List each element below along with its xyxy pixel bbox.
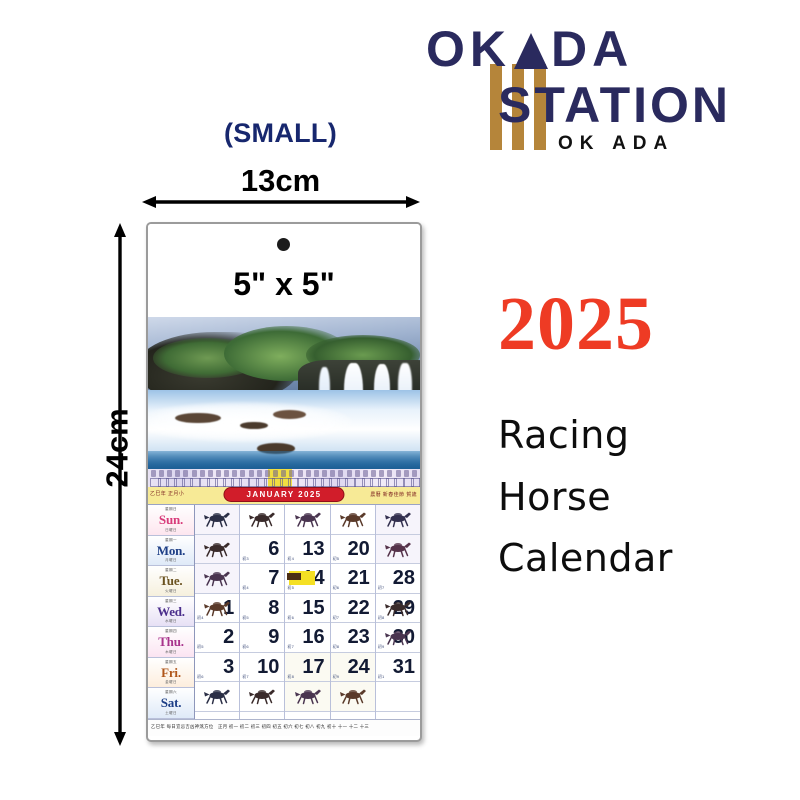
date-number: 23: [348, 627, 370, 647]
weekday-column: 星期日Sun.日曜日星期一Mon.月曜日星期二Tue.火曜日星期三Wed.水曜日…: [148, 505, 195, 719]
photo-river-rock-c: [273, 410, 306, 419]
month-label: JANUARY 2025: [224, 488, 343, 501]
logo-da-text: DA: [551, 21, 633, 77]
week-columns: 1初42初53初66初37初48初59初610初713初414初515初616初…: [195, 505, 420, 719]
calendar-grid: 星期日Sun.日曜日星期一Mon.月曜日星期二Tue.火曜日星期三Wed.水曜日…: [148, 504, 420, 719]
racing-horse-icon: [202, 599, 232, 616]
date-number: 24: [348, 657, 370, 677]
date-cell: 1初4: [195, 594, 239, 624]
decorative-glyph: [183, 470, 188, 477]
date-cell: 2初5: [195, 623, 239, 653]
date-number: 13: [302, 539, 324, 559]
racing-horse-icon: [202, 570, 232, 587]
racing-horse-icon: [383, 540, 413, 557]
date-cell: [331, 682, 375, 712]
date-cell: [376, 535, 420, 565]
logo-line-subtitle: OK ADA: [558, 134, 674, 153]
lunar-date: 初5: [287, 586, 294, 590]
date-cell: [195, 564, 239, 594]
week-column: 28初729初830初931初1: [376, 505, 420, 719]
waterfall-photo: [148, 317, 420, 469]
weekday-name: Fri.: [161, 666, 181, 679]
decorative-glyph: [306, 470, 311, 477]
decorative-glyph: [159, 470, 164, 477]
decorative-glyph: [404, 470, 409, 477]
lunar-date: 初5: [197, 645, 204, 649]
date-cell: [376, 505, 420, 535]
lunar-date: 初8: [333, 645, 340, 649]
date-number: 7: [268, 568, 279, 588]
lunar-date: 初7: [242, 675, 249, 679]
brand-logo: OKDA STATION OK ADA: [418, 22, 778, 152]
weekday-bottom-text: 日曜日: [148, 528, 194, 533]
weekday-name: Sun.: [159, 513, 183, 526]
height-dimension-label: 24cm: [100, 408, 136, 487]
weekday-name: Mon.: [157, 544, 185, 557]
weekday-cell-thu: 星期四Thu.木曜日: [148, 627, 194, 658]
weekday-bottom-text: 水曜日: [148, 619, 194, 624]
weekday-bottom-text: 土曜日: [148, 711, 194, 716]
racing-horse-icon: [383, 599, 413, 616]
date-cell: 15初6: [285, 594, 329, 624]
lunar-date: 初4: [287, 557, 294, 561]
weekday-bottom-text: 火曜日: [148, 589, 194, 594]
product-year: 2025: [498, 286, 654, 362]
size-variant-label: (SMALL): [143, 118, 418, 149]
lunar-date: 初4: [242, 586, 249, 590]
racing-horse-icon: [383, 511, 413, 528]
decorative-glyph: [192, 470, 197, 477]
decorative-glyph: [347, 470, 352, 477]
decorative-box: [419, 478, 420, 487]
decorative-glyph: [338, 470, 343, 477]
date-number: 22: [348, 598, 370, 618]
calendar-header-panel: 5" x 5": [148, 224, 420, 317]
holiday-tag-dark: [287, 573, 301, 580]
date-cell: [195, 535, 239, 565]
date-number: 3: [223, 657, 234, 677]
date-number: 28: [393, 568, 415, 588]
weekday-bottom-text: 木曜日: [148, 650, 194, 655]
weekday-name: Thu.: [158, 635, 184, 648]
date-cell: 24初9: [331, 653, 375, 683]
date-cell: 3初6: [195, 653, 239, 683]
weekday-cell-wed: 星期三Wed.水曜日: [148, 597, 194, 628]
date-number: 10: [257, 657, 279, 677]
lunar-date: 初6: [197, 675, 204, 679]
lunar-date: 初4: [197, 616, 204, 620]
weekday-top-text: 星期五: [148, 660, 194, 665]
date-cell: [195, 505, 239, 535]
weekday-name: Sat.: [161, 696, 182, 709]
date-cell: [240, 505, 284, 535]
decorative-glyph: [167, 470, 172, 477]
date-cell: 8初5: [240, 594, 284, 624]
decorative-glyph: [232, 470, 237, 477]
racing-horse-icon: [293, 688, 323, 705]
racing-horse-icon: [383, 629, 413, 646]
calendar-product-photo: 5" x 5" 乙巳年 正月小 農曆 新春佳節 賀歲: [146, 222, 422, 742]
lunar-date: 初5: [333, 557, 340, 561]
logo-ok-text: OK: [426, 21, 511, 77]
decorative-glyph: [330, 470, 335, 477]
date-cell: [285, 682, 329, 712]
lunar-date: 初7: [287, 645, 294, 649]
product-listing-image: OKDA STATION OK ADA 2025 Racing Horse Ca…: [0, 0, 800, 800]
week-column: 6初37初48初59初610初7: [240, 505, 285, 719]
desc-line-3: Calendar: [498, 528, 768, 590]
decorative-glyph: [355, 470, 360, 477]
logo-triangle-a-icon: [514, 33, 548, 69]
weekday-top-text: 星期四: [148, 629, 194, 634]
date-cell: 7初4: [240, 564, 284, 594]
weekday-top-text: 星期三: [148, 599, 194, 604]
date-cell: [285, 505, 329, 535]
date-number: 31: [393, 657, 415, 677]
weekday-bottom-text: 月曜日: [148, 558, 194, 563]
date-cell: 28初7: [376, 564, 420, 594]
lunar-date: 初8: [287, 675, 294, 679]
footer-left-text: 乙巳年 每日宜忌吉凶神煞方位: [151, 724, 214, 730]
print-size-label: 5" x 5": [148, 266, 420, 303]
decorative-glyph: [208, 470, 213, 477]
date-number: 8: [268, 598, 279, 618]
lunar-date: 初3: [242, 557, 249, 561]
racing-horse-icon: [202, 540, 232, 557]
date-cell: 17初8: [285, 653, 329, 683]
decorative-glyph: [322, 470, 327, 477]
banner-right-text: 農曆 新春佳節 賀歲: [370, 491, 417, 498]
decorative-glyph: [298, 470, 303, 477]
decorative-glyph: [379, 470, 384, 477]
weekday-top-text: 星期六: [148, 690, 194, 695]
racing-horse-icon: [338, 511, 368, 528]
lunar-date: 初5: [242, 616, 249, 620]
lunar-date: 初9: [378, 645, 385, 649]
weekday-top-text: 星期日: [148, 507, 194, 512]
date-number: 9: [268, 627, 279, 647]
decorative-glyph: [265, 470, 270, 477]
date-number: 6: [268, 539, 279, 559]
hanging-hole-icon: [277, 238, 290, 251]
date-cell: 10初7: [240, 653, 284, 683]
decorative-glyph: [371, 470, 376, 477]
date-number: 17: [302, 657, 324, 677]
decorative-glyph: [151, 470, 156, 477]
decorative-glyph: [273, 470, 278, 477]
lunar-date: 初6: [287, 616, 294, 620]
racing-horse-icon: [202, 688, 232, 705]
decorative-glyph: [200, 470, 205, 477]
decorative-glyph: [281, 470, 286, 477]
weekday-cell-sat: 星期六Sat.土曜日: [148, 688, 194, 719]
date-cell: 30初9: [376, 623, 420, 653]
date-cell: [376, 682, 420, 712]
weekday-cell-mon: 星期一Mon.月曜日: [148, 536, 194, 567]
weekday-top-text: 星期一: [148, 538, 194, 543]
date-number: 2: [223, 627, 234, 647]
weekday-cell-fri: 星期五Fri.金曜日: [148, 658, 194, 689]
calendar-footer: 乙巳年 每日宜忌吉凶神煞方位 正月 初一 初二 初三 初四 初五 初六 初七 初…: [148, 719, 420, 736]
decorative-glyph: [289, 470, 294, 477]
weekday-bottom-text: 金曜日: [148, 680, 194, 685]
date-number: 16: [302, 627, 324, 647]
date-cell: [331, 505, 375, 535]
racing-horse-icon: [247, 511, 277, 528]
weekday-name: Tue.: [160, 574, 183, 587]
date-cell: 9初6: [240, 623, 284, 653]
decorative-glyph: [387, 470, 392, 477]
decorative-glyph: [363, 470, 368, 477]
date-number: 20: [348, 539, 370, 559]
desc-line-1: Racing: [498, 405, 768, 467]
decorative-glyph: [412, 470, 417, 477]
date-cell: 23初8: [331, 623, 375, 653]
decorative-glyph: [396, 470, 401, 477]
date-cell: 6初3: [240, 535, 284, 565]
footer-right-text: 正月 初一 初二 初三 初四 初五 初六 初七 初八 初九 初十 十一 十二 十…: [218, 724, 369, 730]
weekday-name: Wed.: [157, 605, 185, 618]
racing-horse-icon: [247, 688, 277, 705]
logo-line-station: STATION: [498, 80, 731, 130]
banner-left-text: 乙巳年 正月小: [150, 490, 184, 497]
lunar-date: 初9: [333, 675, 340, 679]
date-number: 21: [348, 568, 370, 588]
lunar-date: 初8: [378, 616, 385, 620]
decorative-glyph: [175, 470, 180, 477]
date-cell: 31初1: [376, 653, 420, 683]
racing-horse-icon: [293, 511, 323, 528]
date-number: 15: [302, 598, 324, 618]
lunar-date: 初6: [333, 586, 340, 590]
date-cell: 16初7: [285, 623, 329, 653]
decorative-strip: [148, 469, 420, 487]
photo-pool: [148, 451, 420, 469]
date-cell: [195, 682, 239, 712]
decorative-glyph: [249, 470, 254, 477]
date-cell: 14初5: [285, 564, 329, 594]
weekday-top-text: 星期二: [148, 568, 194, 573]
date-cell: [240, 682, 284, 712]
lunar-date: 初1: [378, 675, 385, 679]
product-description: Racing Horse Calendar: [498, 405, 768, 590]
date-cell: 20初5: [331, 535, 375, 565]
week-column: 1初42初53初6: [195, 505, 240, 719]
week-column: 13初414初515初616初717初8: [285, 505, 330, 719]
lunar-date: 初6: [242, 645, 249, 649]
racing-horse-icon: [202, 511, 232, 528]
lunar-date: 初7: [378, 586, 385, 590]
decorative-glyph: [216, 470, 221, 477]
decorative-glyph: [314, 470, 319, 477]
month-banner: 乙巳年 正月小 農曆 新春佳節 賀歲 JANUARY 2025: [148, 487, 420, 504]
date-cell: 22初7: [331, 594, 375, 624]
decorative-glyph: [224, 470, 229, 477]
lunar-date: 初7: [333, 616, 340, 620]
racing-horse-icon: [338, 688, 368, 705]
date-cell: 13初4: [285, 535, 329, 565]
decorative-glyph: [240, 470, 245, 477]
weekday-cell-sun: 星期日Sun.日曜日: [148, 505, 194, 536]
logo-line-okada: OKDA: [426, 24, 633, 74]
weekday-cell-tue: 星期二Tue.火曜日: [148, 566, 194, 597]
date-cell: 21初6: [331, 564, 375, 594]
decorative-glyph: [257, 470, 262, 477]
week-column: 20初521初622初723初824初9: [331, 505, 376, 719]
desc-line-2: Horse: [498, 467, 768, 529]
width-arrow-icon: [141, 194, 421, 210]
date-cell: 29初8: [376, 594, 420, 624]
